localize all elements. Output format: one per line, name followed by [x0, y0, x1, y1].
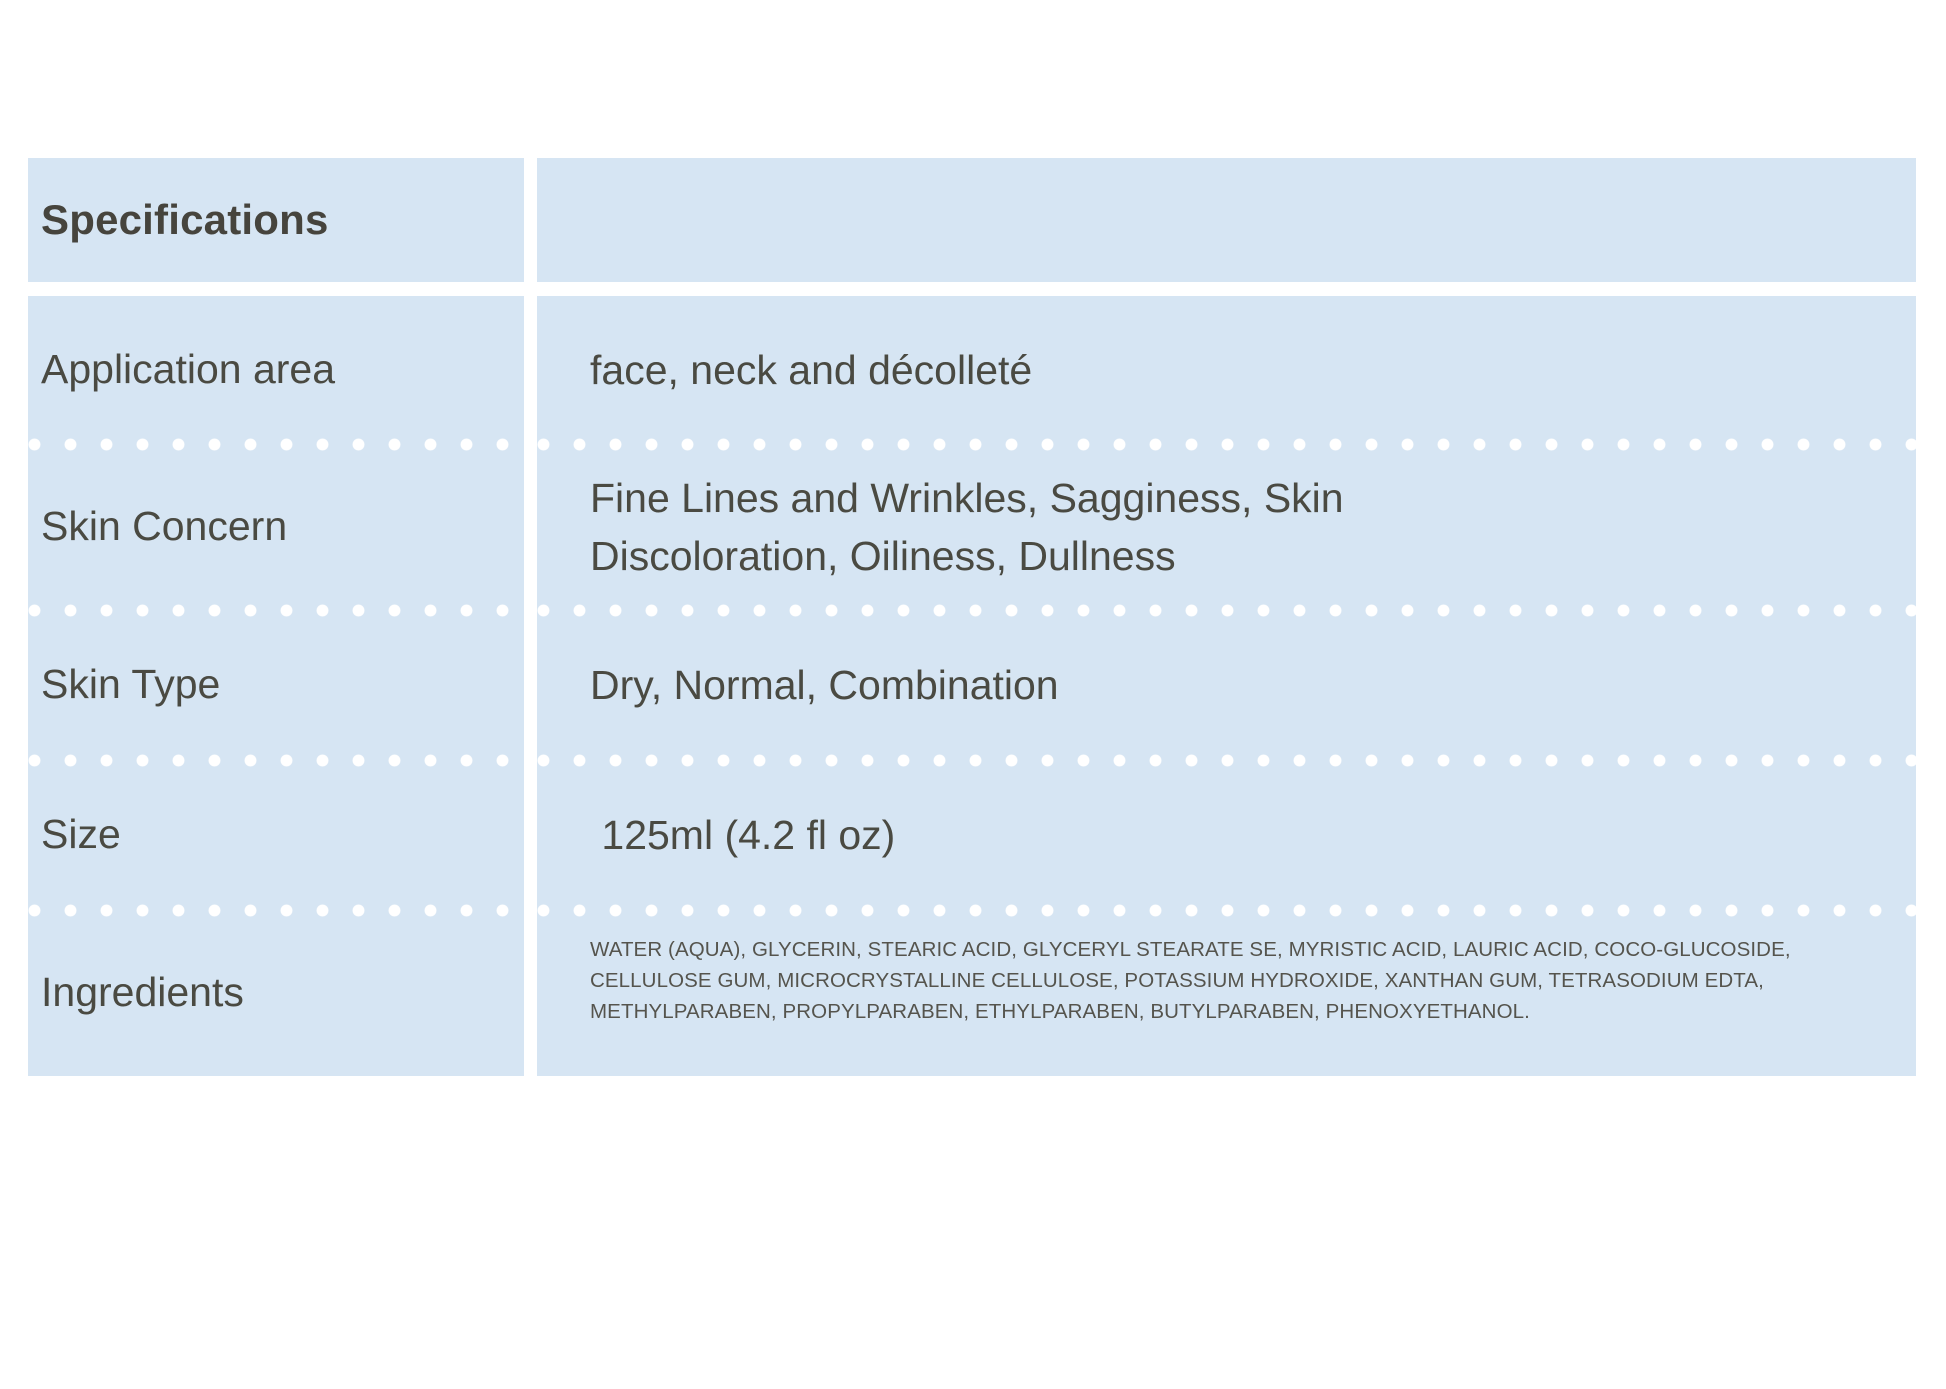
- page-title: Specifications: [41, 197, 329, 243]
- row-label-skin-type: Skin Type: [41, 659, 220, 710]
- row-label-cell-skin-concern: Skin Concern: [28, 444, 524, 610]
- row-label-cell-skin-type: Skin Type: [28, 610, 524, 760]
- row-value-cell-ingredients: WATER (AQUA), GLYCERIN, STEARIC ACID, GL…: [537, 910, 1916, 1076]
- table-row-application-area: Application area face, neck and décollet…: [28, 296, 1916, 444]
- row-value-ingredients: WATER (AQUA), GLYCERIN, STEARIC ACID, GL…: [590, 934, 1916, 1027]
- row-value-cell-skin-concern: Fine Lines and Wrinkles, Sagginess, Skin…: [537, 444, 1916, 610]
- specifications-table: Specifications Application area face, ne…: [28, 158, 1916, 1076]
- row-label-application-area: Application area: [41, 344, 335, 395]
- row-label-cell-ingredients: Ingredients: [28, 910, 524, 1076]
- row-label-cell-application-area: Application area: [28, 296, 524, 444]
- row-label-ingredients: Ingredients: [41, 967, 244, 1018]
- row-value-skin-concern: Fine Lines and Wrinkles, Sagginess, Skin…: [590, 469, 1410, 585]
- table-row-ingredients: Ingredients WATER (AQUA), GLYCERIN, STEA…: [28, 910, 1916, 1076]
- table-header-row: Specifications: [28, 158, 1916, 282]
- header-label-cell: Specifications: [28, 158, 524, 282]
- row-value-size: 125ml (4.2 fl oz): [590, 806, 895, 864]
- header-value-cell: [537, 158, 1916, 282]
- row-value-skin-type: Dry, Normal, Combination: [590, 656, 1059, 714]
- table-row-size: Size 125ml (4.2 fl oz): [28, 760, 1916, 910]
- row-label-size: Size: [41, 809, 121, 860]
- table-row-skin-type: Skin Type Dry, Normal, Combination: [28, 610, 1916, 760]
- row-value-cell-skin-type: Dry, Normal, Combination: [537, 610, 1916, 760]
- row-value-cell-size: 125ml (4.2 fl oz): [537, 760, 1916, 910]
- row-label-cell-size: Size: [28, 760, 524, 910]
- row-label-skin-concern: Skin Concern: [41, 501, 287, 552]
- row-value-cell-application-area: face, neck and décolleté: [537, 296, 1916, 444]
- header-body-gap: [28, 282, 1916, 296]
- row-value-application-area: face, neck and décolleté: [590, 341, 1032, 399]
- table-row-skin-concern: Skin Concern Fine Lines and Wrinkles, Sa…: [28, 444, 1916, 610]
